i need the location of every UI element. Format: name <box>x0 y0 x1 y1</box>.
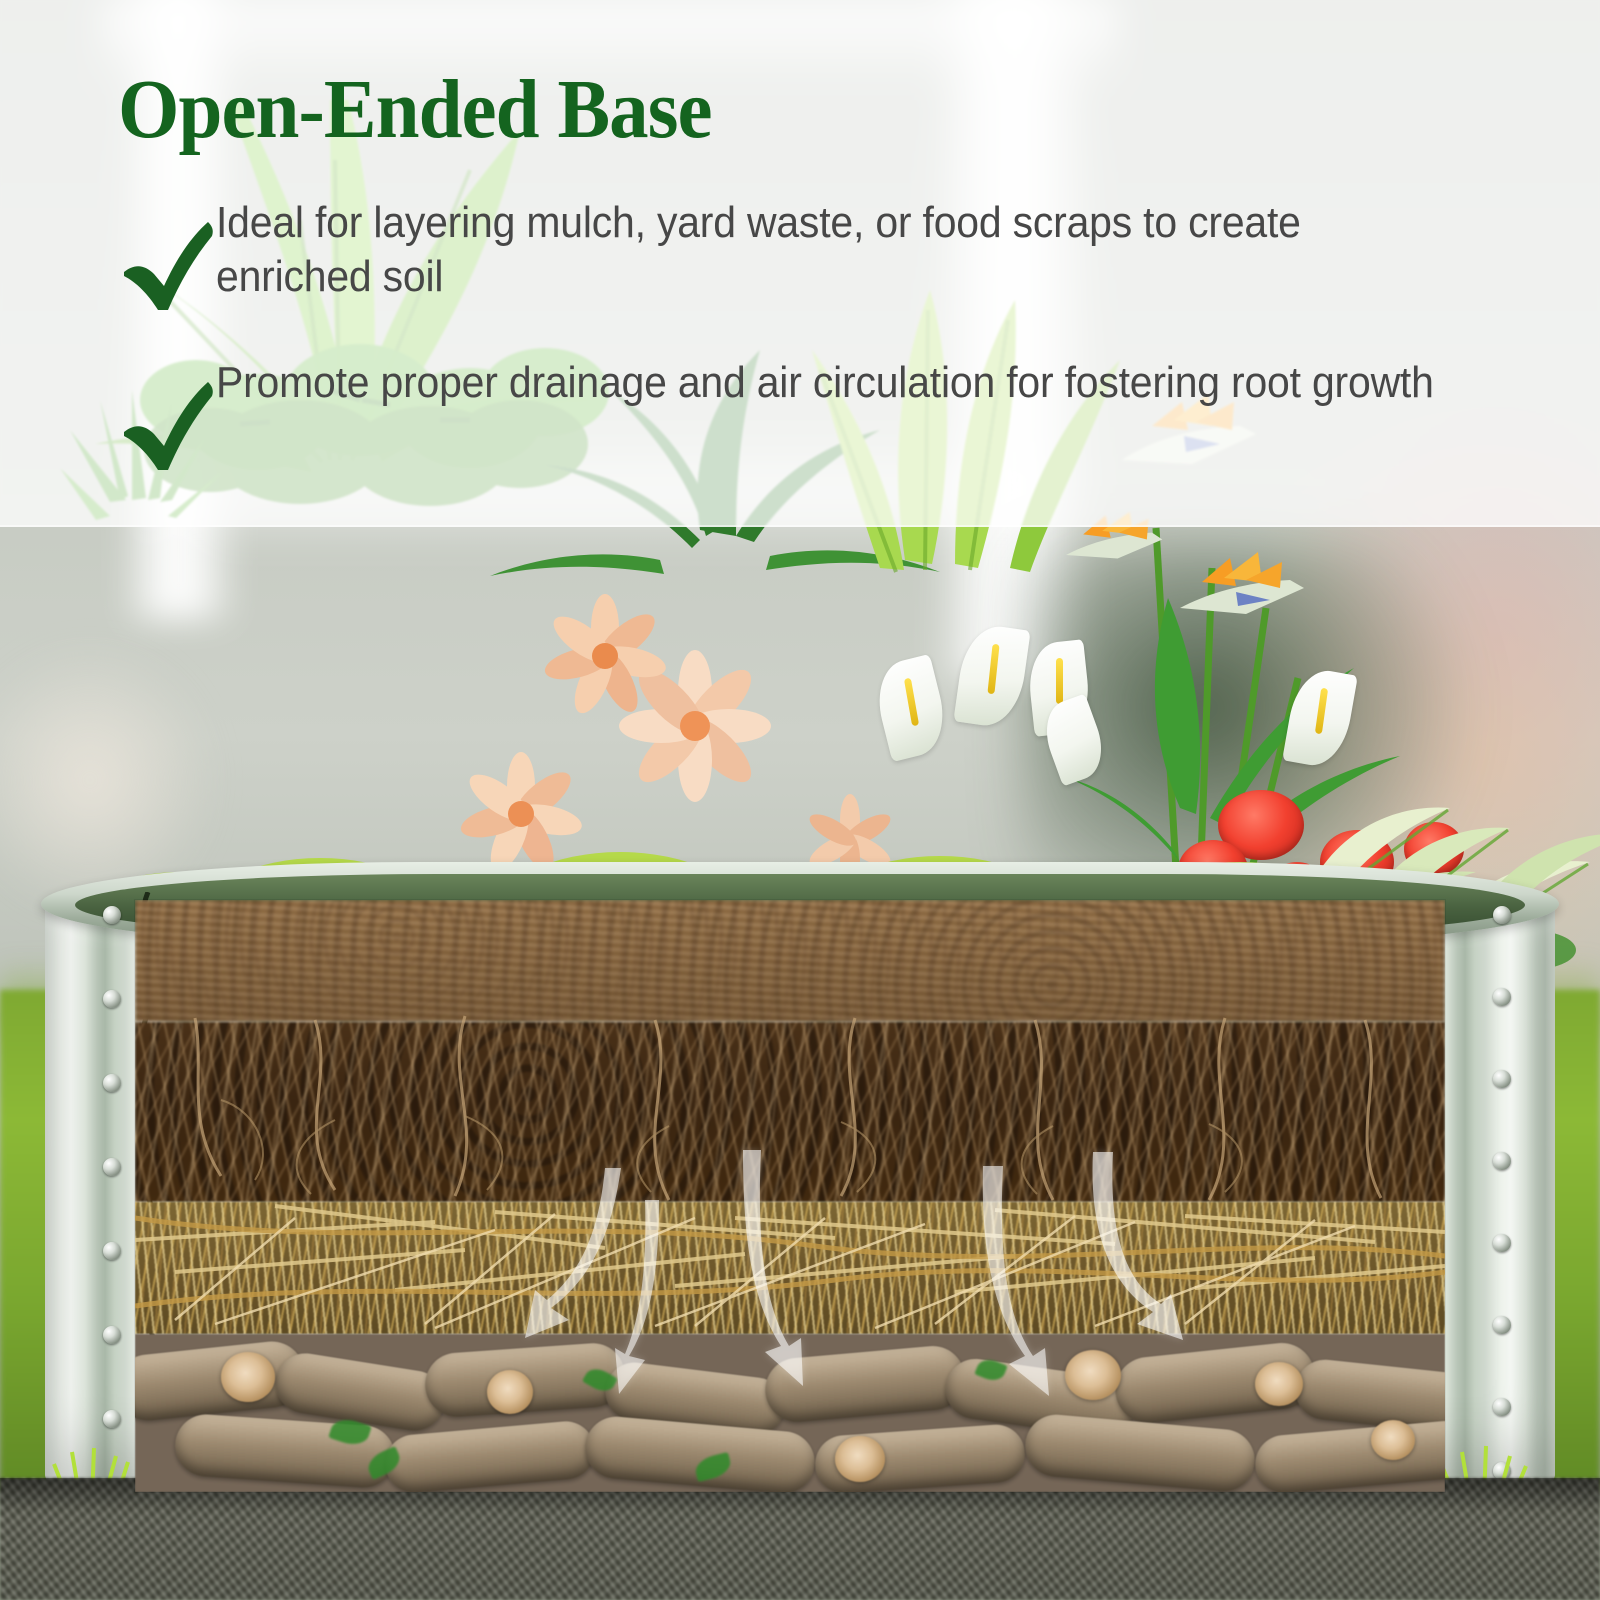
screw-icon <box>1493 1398 1511 1416</box>
screw-icon <box>1493 988 1511 1006</box>
feature-bullet-list: Ideal for layering mulch, yard waste, or… <box>120 196 1540 516</box>
screw-icon <box>103 1242 121 1260</box>
drainage-airflow-arrow <box>963 1166 1083 1416</box>
screw-icon <box>103 1158 121 1176</box>
log-cut-end <box>835 1436 885 1482</box>
log-cut-end <box>1255 1362 1303 1406</box>
drainage-airflow-arrow <box>1075 1152 1205 1382</box>
product-feature-image: Open-Ended Base Ideal for layering mulch… <box>0 0 1600 1600</box>
feature-bullet-item: Promote proper drainage and air circulat… <box>120 356 1540 472</box>
screw-icon <box>103 906 121 924</box>
screw-icon <box>103 1326 121 1344</box>
screw-icon <box>1493 1070 1511 1088</box>
check-mark-icon <box>120 220 216 312</box>
check-mark-icon <box>120 380 216 472</box>
drainage-airflow-arrow <box>717 1150 837 1410</box>
screw-icon <box>103 1074 121 1092</box>
screw-icon <box>1493 906 1511 924</box>
screw-icon <box>103 990 121 1008</box>
screw-icon <box>1493 1316 1511 1334</box>
feature-bullet-text: Ideal for layering mulch, yard waste, or… <box>216 196 1447 303</box>
feature-bullet-item: Ideal for layering mulch, yard waste, or… <box>120 196 1540 312</box>
screw-column-left <box>103 902 125 1462</box>
screw-icon <box>1493 1234 1511 1252</box>
log-cut-end <box>1371 1420 1415 1460</box>
soil-cross-section <box>135 900 1445 1492</box>
page-title: Open-Ended Base <box>118 68 712 152</box>
drainage-airflow-arrow <box>615 1200 715 1420</box>
screw-icon <box>1493 1152 1511 1170</box>
screw-column-right <box>1493 902 1515 1462</box>
peach-daisy-flower <box>520 574 690 738</box>
feature-bullet-text: Promote proper drainage and air circulat… <box>216 356 1447 410</box>
log-cut-end <box>221 1352 275 1402</box>
